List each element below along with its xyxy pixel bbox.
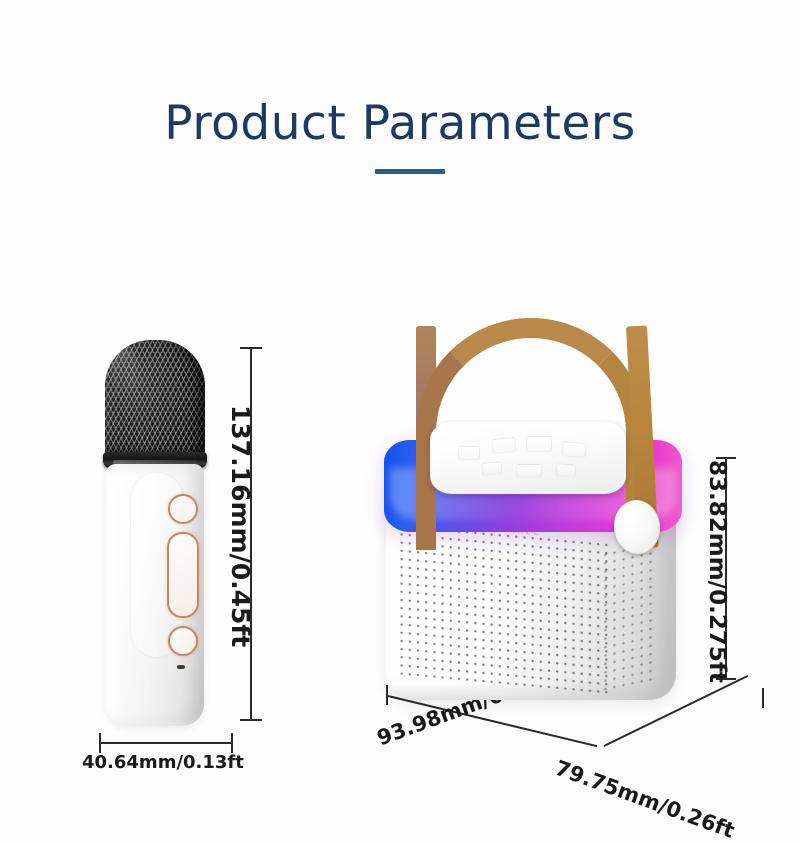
speaker-height-tick-top [716,457,736,459]
microphone-body [106,464,204,726]
speaker-volume-down-icon [482,461,503,475]
microphone-control-panel [130,472,184,658]
mic-width-dimension-line [100,742,233,744]
speaker-mode-button-icon [516,464,542,478]
product-parameters-image: Product Parameters 137.16mm/0.45ft 40.64… [0,0,800,800]
page-title: Product Parameters [0,96,800,151]
microphone-mesh-grille [105,340,205,458]
mic-height-tick-bottom [240,719,262,721]
speaker-next-button-icon [561,441,586,458]
speaker-height-dimension-label: 83.82mm/0.275ft [704,460,730,683]
microphone-power-button-icon [168,494,198,524]
title-underline-rule [375,169,445,174]
mic-height-tick-top [240,347,262,349]
microphone-mode-button-icon [168,626,198,656]
mic-width-dimension-label: 40.64mm/0.13ft [82,752,244,773]
mic-width-tick-left [99,733,101,753]
microphone-illustration [95,340,215,730]
speaker-power-button-icon [526,436,552,452]
speaker-play-button-icon [458,446,480,460]
mic-width-tick-right [231,733,233,753]
speaker-illustration: AUX TF CARD TYPE-C [378,318,698,718]
speaker-volume-up-icon [556,463,577,477]
mic-height-dimension-label: 137.16mm/0.45ft [226,405,255,647]
speaker-depth-tick [762,688,764,708]
speaker-prev-button-icon [491,437,516,454]
microphone-volume-button-icon [167,532,199,618]
speaker-top-control-plate [430,422,626,494]
microphone-led-indicator-icon [177,665,185,669]
speaker-side-grille [604,542,656,695]
speaker-depth-dimension-label: 79.75mm/0.26ft [552,756,738,843]
